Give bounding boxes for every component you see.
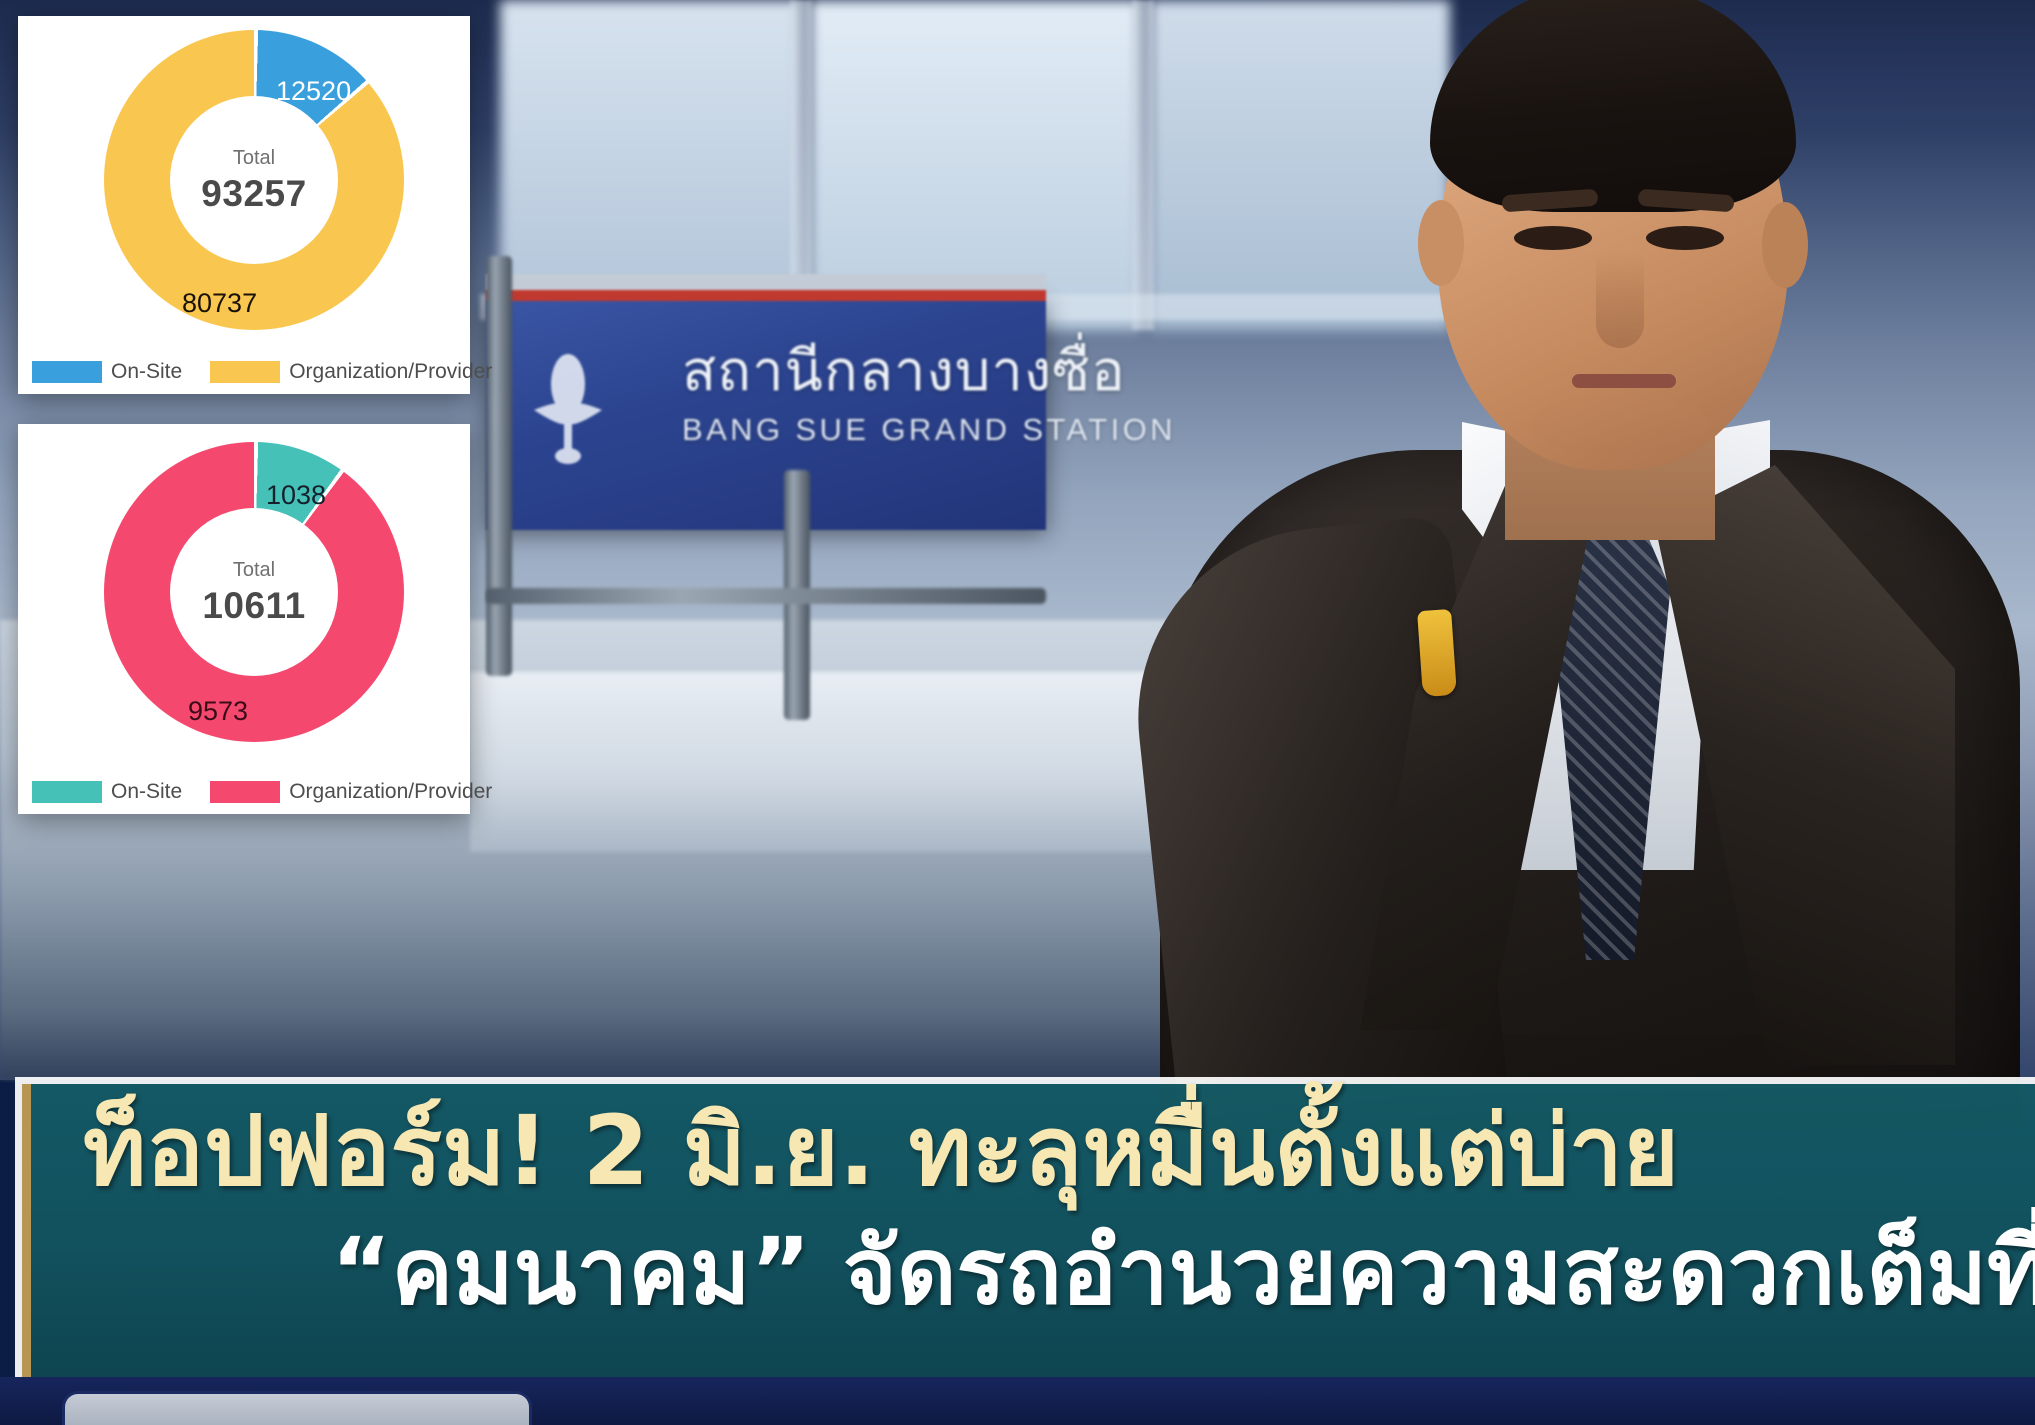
legend-item-on-site-primary[interactable]: On-Site bbox=[32, 360, 182, 384]
queue-barrier-rail bbox=[486, 588, 1046, 604]
queue-barrier-post-left bbox=[486, 256, 512, 676]
chart-legend-secondary: On-Site Organization/Provider bbox=[18, 770, 470, 814]
headline-line-1: ท็อปฟอร์ม! 2 มิ.ย. ทะลุหมื่นตั้งแต่บ่าย bbox=[83, 1098, 2025, 1206]
chart-legend-primary: On-Site Organization/Provider bbox=[18, 350, 470, 394]
donut-center-primary: Total 93257 bbox=[170, 96, 338, 264]
donut-total-label-primary: Total bbox=[233, 148, 275, 168]
news-graphic-screenshot: สถานีกลางบางซื่อ BANG SUE GRAND STATION bbox=[0, 0, 2035, 1425]
headline-line-2: “คมนาคม” จัดรถอำนวยความสะดวกเต็มที่ bbox=[331, 1220, 2025, 1323]
mouth bbox=[1572, 374, 1676, 388]
slice-label-on-site-primary: 12520 bbox=[276, 76, 351, 107]
donut-chart-area-primary: Total 93257 12520 80737 bbox=[18, 16, 470, 350]
legend-item-organization-secondary[interactable]: Organization/Provider bbox=[210, 780, 492, 804]
slice-label-organization-secondary: 9573 bbox=[188, 696, 248, 727]
eye-right bbox=[1646, 226, 1724, 250]
bottom-rounded-tab[interactable] bbox=[62, 1391, 532, 1425]
station-sign-english-text: BANG SUE GRAND STATION bbox=[682, 412, 1036, 448]
legend-swatch-on-site-secondary bbox=[32, 781, 102, 803]
donut-chart-card-primary[interactable]: Total 93257 12520 80737 On-Site Organiza… bbox=[18, 16, 470, 394]
legend-item-on-site-secondary[interactable]: On-Site bbox=[32, 780, 182, 804]
sign-top-grey-trim bbox=[486, 274, 1046, 290]
legend-item-organization-primary[interactable]: Organization/Provider bbox=[210, 360, 492, 384]
slice-label-on-site-secondary: 1038 bbox=[266, 480, 326, 511]
ear-left bbox=[1418, 200, 1464, 286]
official-portrait bbox=[1110, 0, 2035, 1110]
station-sign-thai-text: สถานีกลางบางซื่อ bbox=[682, 326, 1036, 415]
donut-total-value-secondary: 10611 bbox=[202, 587, 305, 624]
legend-label-on-site-secondary: On-Site bbox=[111, 780, 182, 804]
eye-left bbox=[1514, 226, 1592, 250]
legend-swatch-organization-secondary bbox=[210, 781, 280, 803]
slice-label-organization-primary: 80737 bbox=[182, 288, 257, 319]
legend-label-organization-secondary: Organization/Provider bbox=[289, 780, 492, 804]
legend-swatch-organization-primary bbox=[210, 361, 280, 383]
headline-banner: ท็อปฟอร์ม! 2 มิ.ย. ทะลุหมื่นตั้งแต่บ่าย … bbox=[22, 1084, 2035, 1380]
lapel-pin-icon bbox=[1417, 609, 1457, 697]
ear-right bbox=[1762, 202, 1808, 288]
donut-chart-area-secondary: Total 10611 1038 9573 bbox=[18, 424, 470, 770]
station-counter-plinth bbox=[470, 672, 1210, 852]
hair bbox=[1430, 0, 1796, 212]
legend-swatch-on-site-primary bbox=[32, 361, 102, 383]
donut-chart-card-secondary[interactable]: Total 10611 1038 9573 On-Site Organizati… bbox=[18, 424, 470, 814]
donut-total-label-secondary: Total bbox=[233, 560, 275, 580]
station-name-sign: สถานีกลางบางซื่อ BANG SUE GRAND STATION bbox=[486, 300, 1046, 530]
donut-center-secondary: Total 10611 bbox=[170, 508, 338, 676]
donut-total-value-primary: 93257 bbox=[201, 175, 306, 212]
nose bbox=[1596, 252, 1644, 348]
sign-red-trim bbox=[486, 290, 1046, 301]
railway-garuda-emblem-icon bbox=[530, 348, 606, 468]
legend-label-on-site-primary: On-Site bbox=[111, 360, 182, 384]
legend-label-organization-primary: Organization/Provider bbox=[289, 360, 492, 384]
chin bbox=[1530, 394, 1710, 456]
